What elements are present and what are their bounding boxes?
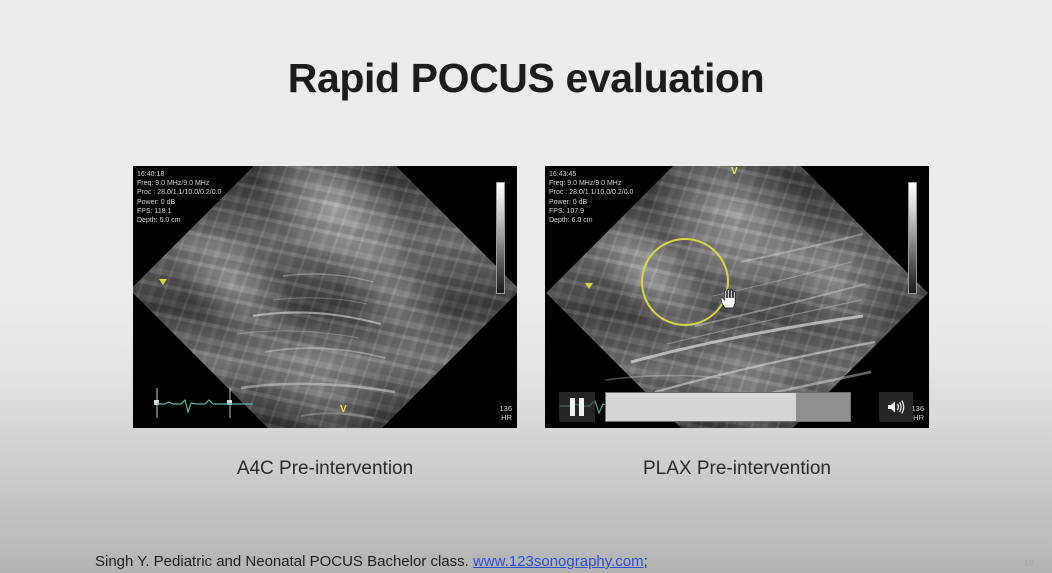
ultrasound-overlay-text-plax: 16:43:45 Freq: 9.0 MHz/9.0 MHz Proc : 28… bbox=[549, 170, 633, 225]
annotation-circle-plax bbox=[641, 238, 729, 326]
apex-v-marker-a4c: V bbox=[340, 405, 347, 415]
overlay-fps: FPS: 107.9 bbox=[549, 207, 633, 216]
footer-citation-suffix: ; bbox=[644, 553, 648, 570]
video-progress-fill bbox=[606, 393, 796, 421]
ultrasound-panel-a4c[interactable]: 16:40:18 Freq: 9.0 MHz/9.0 MHz Proc : 28… bbox=[133, 166, 517, 428]
footer-citation-text: Singh Y. Pediatric and Neonatal POCUS Ba… bbox=[95, 553, 469, 570]
overlay-freq: Freq: 9.0 MHz/9.0 MHz bbox=[549, 179, 633, 188]
caption-plax: PLAX Pre-intervention bbox=[545, 458, 929, 480]
hand-cursor-icon bbox=[719, 288, 739, 310]
overlay-depth: Depth: 6.0 cm bbox=[549, 216, 633, 225]
overlay-proc: Proc : 28.0/1.1/10.0/0.2/0.0 bbox=[549, 188, 633, 197]
pause-button[interactable] bbox=[559, 392, 595, 422]
pause-icon-bar-left bbox=[570, 398, 575, 416]
footer-citation-link[interactable]: www.123sonography.com bbox=[473, 553, 644, 570]
overlay-time: 16:43:45 bbox=[549, 170, 633, 179]
hr-unit: HR bbox=[501, 413, 512, 422]
ultrasound-overlay-text-a4c: 16:40:18 Freq: 9.0 MHz/9.0 MHz Proc : 28… bbox=[137, 170, 221, 225]
overlay-proc: Proc : 28.0/1.1/10.0/0.2/0.0 bbox=[137, 188, 221, 197]
apex-v-marker-plax: V bbox=[731, 167, 738, 177]
caption-a4c: A4C Pre-intervention bbox=[133, 458, 517, 480]
page-title: Rapid POCUS evaluation bbox=[0, 55, 1052, 102]
grayscale-bar-a4c bbox=[496, 182, 505, 294]
depth-triangle-marker-plax bbox=[585, 283, 593, 289]
overlay-time: 16:40:18 bbox=[137, 170, 221, 179]
hr-value: 136 bbox=[499, 404, 512, 413]
overlay-freq: Freq: 9.0 MHz/9.0 MHz bbox=[137, 179, 221, 188]
overlay-power: Power: 0 dB bbox=[137, 198, 221, 207]
volume-button[interactable] bbox=[879, 392, 913, 422]
volume-icon bbox=[886, 399, 906, 415]
heart-rate-badge-a4c: 136 HR bbox=[499, 404, 512, 422]
overlay-depth: Depth: 5.0 cm bbox=[137, 216, 221, 225]
pause-icon-bar-right bbox=[579, 398, 584, 416]
footer-citation: Singh Y. Pediatric and Neonatal POCUS Ba… bbox=[95, 553, 648, 570]
overlay-fps: FPS: 118.1 bbox=[137, 207, 221, 216]
ecg-trace-a4c bbox=[133, 388, 517, 418]
ultrasound-panel-plax[interactable]: 16:43:45 Freq: 9.0 MHz/9.0 MHz Proc : 28… bbox=[545, 166, 929, 428]
video-controls-plax[interactable] bbox=[545, 386, 929, 428]
grayscale-bar-plax bbox=[908, 182, 917, 294]
depth-triangle-marker-a4c bbox=[159, 279, 167, 285]
slide-page-number: 18 bbox=[1024, 558, 1034, 568]
overlay-power: Power: 0 dB bbox=[549, 198, 633, 207]
video-progress-bar[interactable] bbox=[605, 392, 851, 422]
